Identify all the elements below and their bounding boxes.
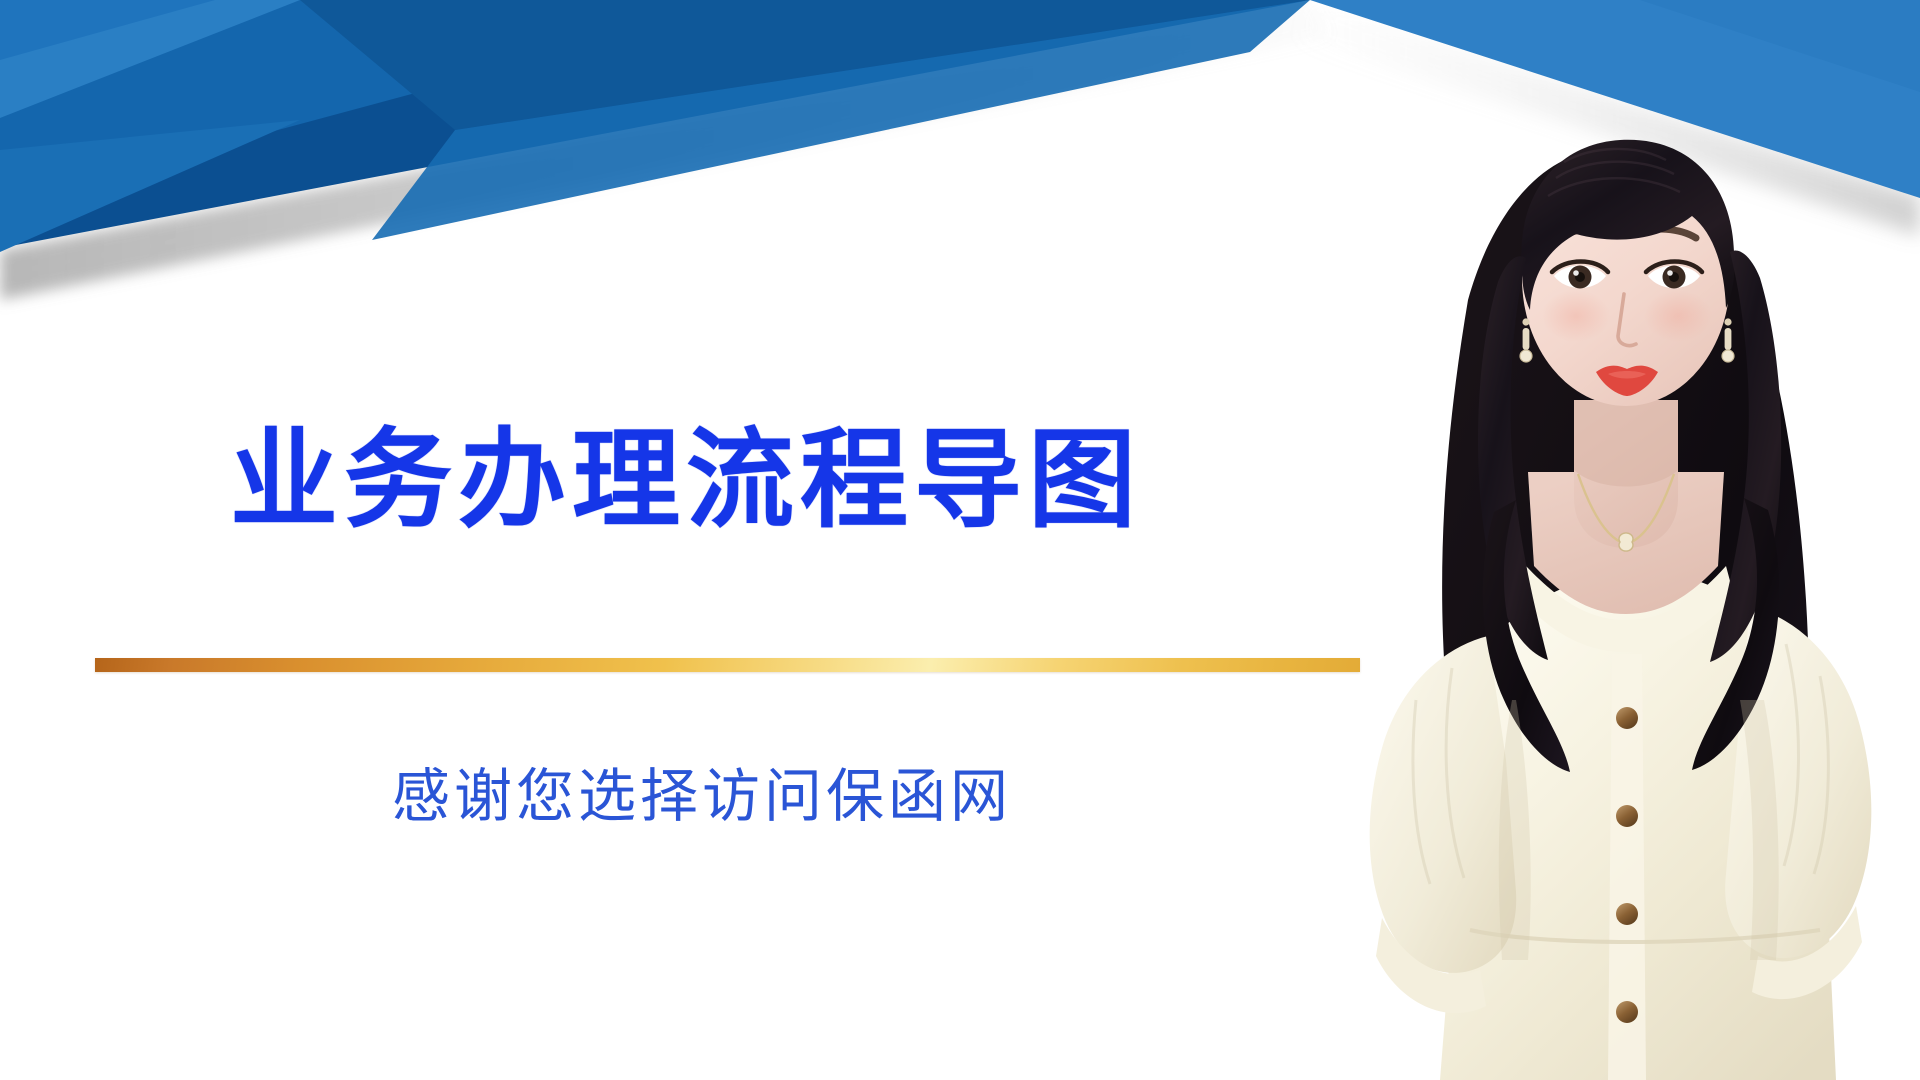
hair-texture	[1548, 149, 1680, 196]
cheek-left	[1542, 290, 1610, 342]
hair-wave-right	[1692, 498, 1779, 770]
blouse-button	[1616, 903, 1638, 925]
hair-crown	[1521, 140, 1734, 310]
banner-corner-right-sliver	[1640, 0, 1920, 92]
hair-side-right	[1710, 250, 1781, 662]
neck	[1574, 400, 1678, 548]
banner-corner-right	[1310, 0, 1920, 198]
earring-right	[1722, 318, 1734, 362]
eye-left	[1552, 262, 1608, 289]
gold-divider	[95, 658, 1360, 672]
neck-shadow	[1574, 400, 1678, 487]
eyebrow-right	[1638, 229, 1696, 238]
face	[1522, 150, 1730, 406]
hair-side-left	[1478, 256, 1548, 660]
sleeve-right	[1725, 606, 1871, 958]
hair-wave-left	[1483, 500, 1570, 772]
presentation-slide: 业务办理流程导图 感谢您选择访问保函网	[0, 0, 1920, 1080]
blouse-button	[1616, 1001, 1638, 1023]
waist-seam	[1470, 930, 1820, 942]
sleeve-folds	[1413, 644, 1828, 884]
blouse-button	[1616, 707, 1638, 729]
nose	[1618, 294, 1636, 346]
sleeve-cuff-right	[1752, 906, 1862, 999]
necklace-pendant	[1619, 533, 1633, 551]
cheek-right	[1644, 290, 1712, 342]
hair-back	[1442, 150, 1809, 1080]
blouse-shading	[1499, 700, 1779, 960]
neckline-band	[1518, 566, 1734, 652]
eyebrow-left	[1558, 229, 1616, 238]
chest-skin	[1528, 472, 1724, 614]
page-subtitle: 感谢您选择访问保函网	[392, 762, 1012, 832]
lips-highlight	[1608, 371, 1646, 379]
page-title: 业务办理流程导图	[230, 420, 1142, 541]
eye-right	[1646, 262, 1702, 289]
blouse-body	[1440, 572, 1836, 1080]
button-placket	[1608, 654, 1646, 1080]
earring-left	[1520, 318, 1532, 362]
blouse-button	[1616, 805, 1638, 827]
title-block: 业务办理流程导图 感谢您选择访问保函网	[0, 0, 1400, 1080]
necklace-chain	[1578, 474, 1674, 544]
presenter-avatar	[1320, 0, 1920, 1080]
lips	[1596, 366, 1658, 396]
blouse-buttons	[1616, 707, 1638, 1023]
